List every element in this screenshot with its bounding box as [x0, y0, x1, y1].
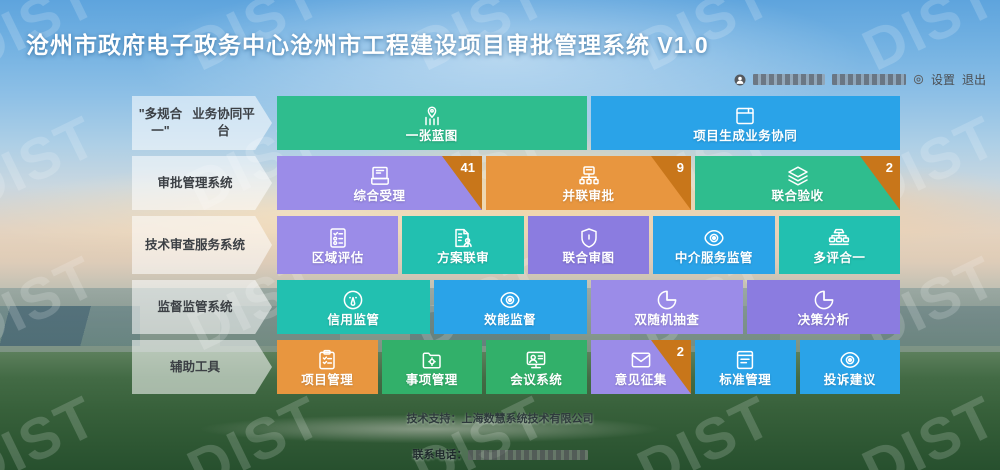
gear-icon[interactable] — [913, 74, 924, 85]
module-tile-label: 会议系统 — [510, 374, 562, 387]
module-tile[interactable]: 双随机抽查 — [591, 280, 744, 334]
module-tile[interactable]: 多评合一 — [779, 216, 900, 274]
module-row: 辅助工具项目管理事项管理会议系统意见征集2标准管理投诉建议 — [0, 340, 1000, 394]
module-tile-label: 方案联审 — [437, 252, 489, 265]
eye-icon — [838, 348, 862, 372]
clipboard-icon — [315, 348, 339, 372]
sidebar-item-0[interactable]: "多规合一"业务协同平台 — [132, 96, 272, 150]
module-tile-label: 多评合一 — [813, 252, 865, 265]
settings-button[interactable]: 设置 — [931, 71, 955, 88]
module-tile-label: 事项管理 — [406, 374, 458, 387]
module-tile[interactable]: 事项管理 — [382, 340, 483, 394]
envelope-icon — [629, 348, 653, 372]
footer-phone-label: 联系电话： — [413, 449, 468, 461]
tile-badge-count: 2 — [677, 345, 684, 358]
module-tile[interactable]: 项目管理 — [277, 340, 378, 394]
tile-group: 区域评估方案联审联合审图中介服务监管多评合一 — [277, 216, 900, 274]
module-tile[interactable]: 信用监管 — [277, 280, 430, 334]
module-tile-label: 并联审批 — [562, 190, 614, 203]
tile-group: 一张蓝图项目生成业务协同 — [277, 96, 900, 150]
layers-icon — [786, 164, 810, 188]
tile-badge-corner — [651, 156, 691, 210]
module-tile[interactable]: 会议系统 — [486, 340, 587, 394]
tile-group: 综合受理41并联审批9联合验收2 — [277, 156, 900, 210]
sidebar-item-3[interactable]: 监督监管系统 — [132, 280, 272, 334]
module-tile[interactable]: 方案联审 — [402, 216, 523, 274]
user-name: ●●●●●●● — [753, 74, 825, 85]
module-tile[interactable]: 意见征集2 — [591, 340, 692, 394]
tile-group: 项目管理事项管理会议系统意见征集2标准管理投诉建议 — [277, 340, 900, 394]
module-tile-label: 项目生成业务协同 — [693, 130, 797, 143]
pie-chart-icon — [655, 288, 679, 312]
module-tile[interactable]: 并联审批9 — [486, 156, 691, 210]
sidebar-item-label: 监督监管系统 — [157, 299, 232, 316]
sidebar-item-label: "多规合一" — [132, 106, 189, 140]
module-tile-label: 项目管理 — [301, 374, 353, 387]
user-bar: ●●●●●●● ●●●●●●● 设置 退出 — [734, 71, 986, 88]
sidebar-item-label: 技术审查服务 — [145, 237, 220, 254]
page-title: 沧州市政府电子政务中心沧州市工程建设项目审批管理系统 V1.0 — [26, 26, 709, 60]
logout-button[interactable]: 退出 — [962, 71, 986, 88]
inbox-tray-icon — [368, 164, 392, 188]
module-tile-label: 效能监督 — [484, 314, 536, 327]
module-tile[interactable]: 决策分析 — [747, 280, 900, 334]
sidebar-item-label: 系统 — [220, 237, 245, 254]
footer-support-value: 上海数慧系统技术有限公司 — [462, 413, 594, 425]
module-tile-label: 信用监管 — [327, 314, 379, 327]
checklist-icon — [326, 226, 350, 250]
org-name: ●●●●●●● — [832, 74, 906, 85]
document-user-icon — [451, 226, 475, 250]
module-tile-label: 决策分析 — [798, 314, 850, 327]
module-tile[interactable]: 标准管理 — [695, 340, 796, 394]
footer-support-label: 技术支持： — [407, 413, 462, 425]
footer-phone: 联系电话：●●●●●●●●●●● ●●●●●●●●●●● — [0, 446, 1000, 462]
pie-chart-icon — [812, 288, 836, 312]
module-tile[interactable]: 项目生成业务协同 — [591, 96, 901, 150]
module-tile[interactable]: 投诉建议 — [800, 340, 901, 394]
tile-badge-corner — [860, 156, 900, 210]
footer-support: 技术支持：上海数慧系统技术有限公司 — [0, 410, 1000, 426]
module-row: 审批管理系统综合受理41并联审批9联合验收2 — [0, 156, 1000, 210]
module-tile[interactable]: 中介服务监管 — [653, 216, 774, 274]
module-row: 监督监管系统信用监管效能监督双随机抽查决策分析 — [0, 280, 1000, 334]
sidebar-item-label: 审批管理系统 — [157, 175, 232, 192]
module-tile[interactable]: 效能监督 — [434, 280, 587, 334]
module-row: "多规合一"业务协同平台一张蓝图项目生成业务协同 — [0, 96, 1000, 150]
module-tile-label: 联合审图 — [563, 252, 615, 265]
module-tile[interactable]: 联合验收2 — [695, 156, 900, 210]
org-chart-icon — [577, 164, 601, 188]
module-tile-label: 投诉建议 — [824, 374, 876, 387]
module-row: 技术审查服务系统区域评估方案联审联合审图中介服务监管多评合一 — [0, 216, 1000, 274]
tile-group: 信用监管效能监督双随机抽查决策分析 — [277, 280, 900, 334]
module-tile-label: 中介服务监管 — [675, 252, 753, 265]
book-icon — [733, 348, 757, 372]
presenter-icon — [524, 348, 548, 372]
folder-gear-icon — [420, 348, 444, 372]
footer-phone-value: ●●●●●●●●●●● ●●●●●●●●●●● — [468, 450, 588, 460]
module-tile[interactable]: 区域评估 — [277, 216, 398, 274]
app-root: DISTDISTDISTDISTDISTDISTDISTDISTDISTDIST… — [0, 0, 1000, 470]
module-tile[interactable]: 一张蓝图 — [277, 96, 587, 150]
module-tile[interactable]: 综合受理41 — [277, 156, 482, 210]
tile-badge-count: 41 — [461, 161, 475, 174]
sidebar-item-2[interactable]: 技术审查服务系统 — [132, 216, 272, 274]
tile-badge-count: 2 — [886, 161, 893, 174]
gauge-icon — [341, 288, 365, 312]
module-tile-label: 综合受理 — [353, 190, 405, 203]
module-grid: "多规合一"业务协同平台一张蓝图项目生成业务协同审批管理系统综合受理41并联审批… — [0, 96, 1000, 400]
stack-files-icon — [827, 226, 851, 250]
tile-badge-count: 9 — [677, 161, 684, 174]
folder-window-icon — [733, 104, 757, 128]
sidebar-item-label: 辅助工具 — [170, 359, 220, 376]
module-tile-label: 标准管理 — [719, 374, 771, 387]
map-pin-icon — [420, 104, 444, 128]
module-tile-label: 一张蓝图 — [406, 130, 458, 143]
module-tile-label: 联合验收 — [771, 190, 823, 203]
shield-icon — [577, 226, 601, 250]
module-tile-label: 双随机抽查 — [634, 314, 699, 327]
eye-icon — [498, 288, 522, 312]
module-tile-label: 区域评估 — [312, 252, 364, 265]
module-tile[interactable]: 联合审图 — [528, 216, 649, 274]
sidebar-item-label: 业务协同平台 — [189, 106, 258, 140]
user-icon — [734, 74, 746, 86]
eye-icon — [702, 226, 726, 250]
sidebar-item-1[interactable]: 审批管理系统 — [132, 156, 272, 210]
sidebar-item-4[interactable]: 辅助工具 — [132, 340, 272, 394]
module-tile-label: 意见征集 — [615, 374, 667, 387]
